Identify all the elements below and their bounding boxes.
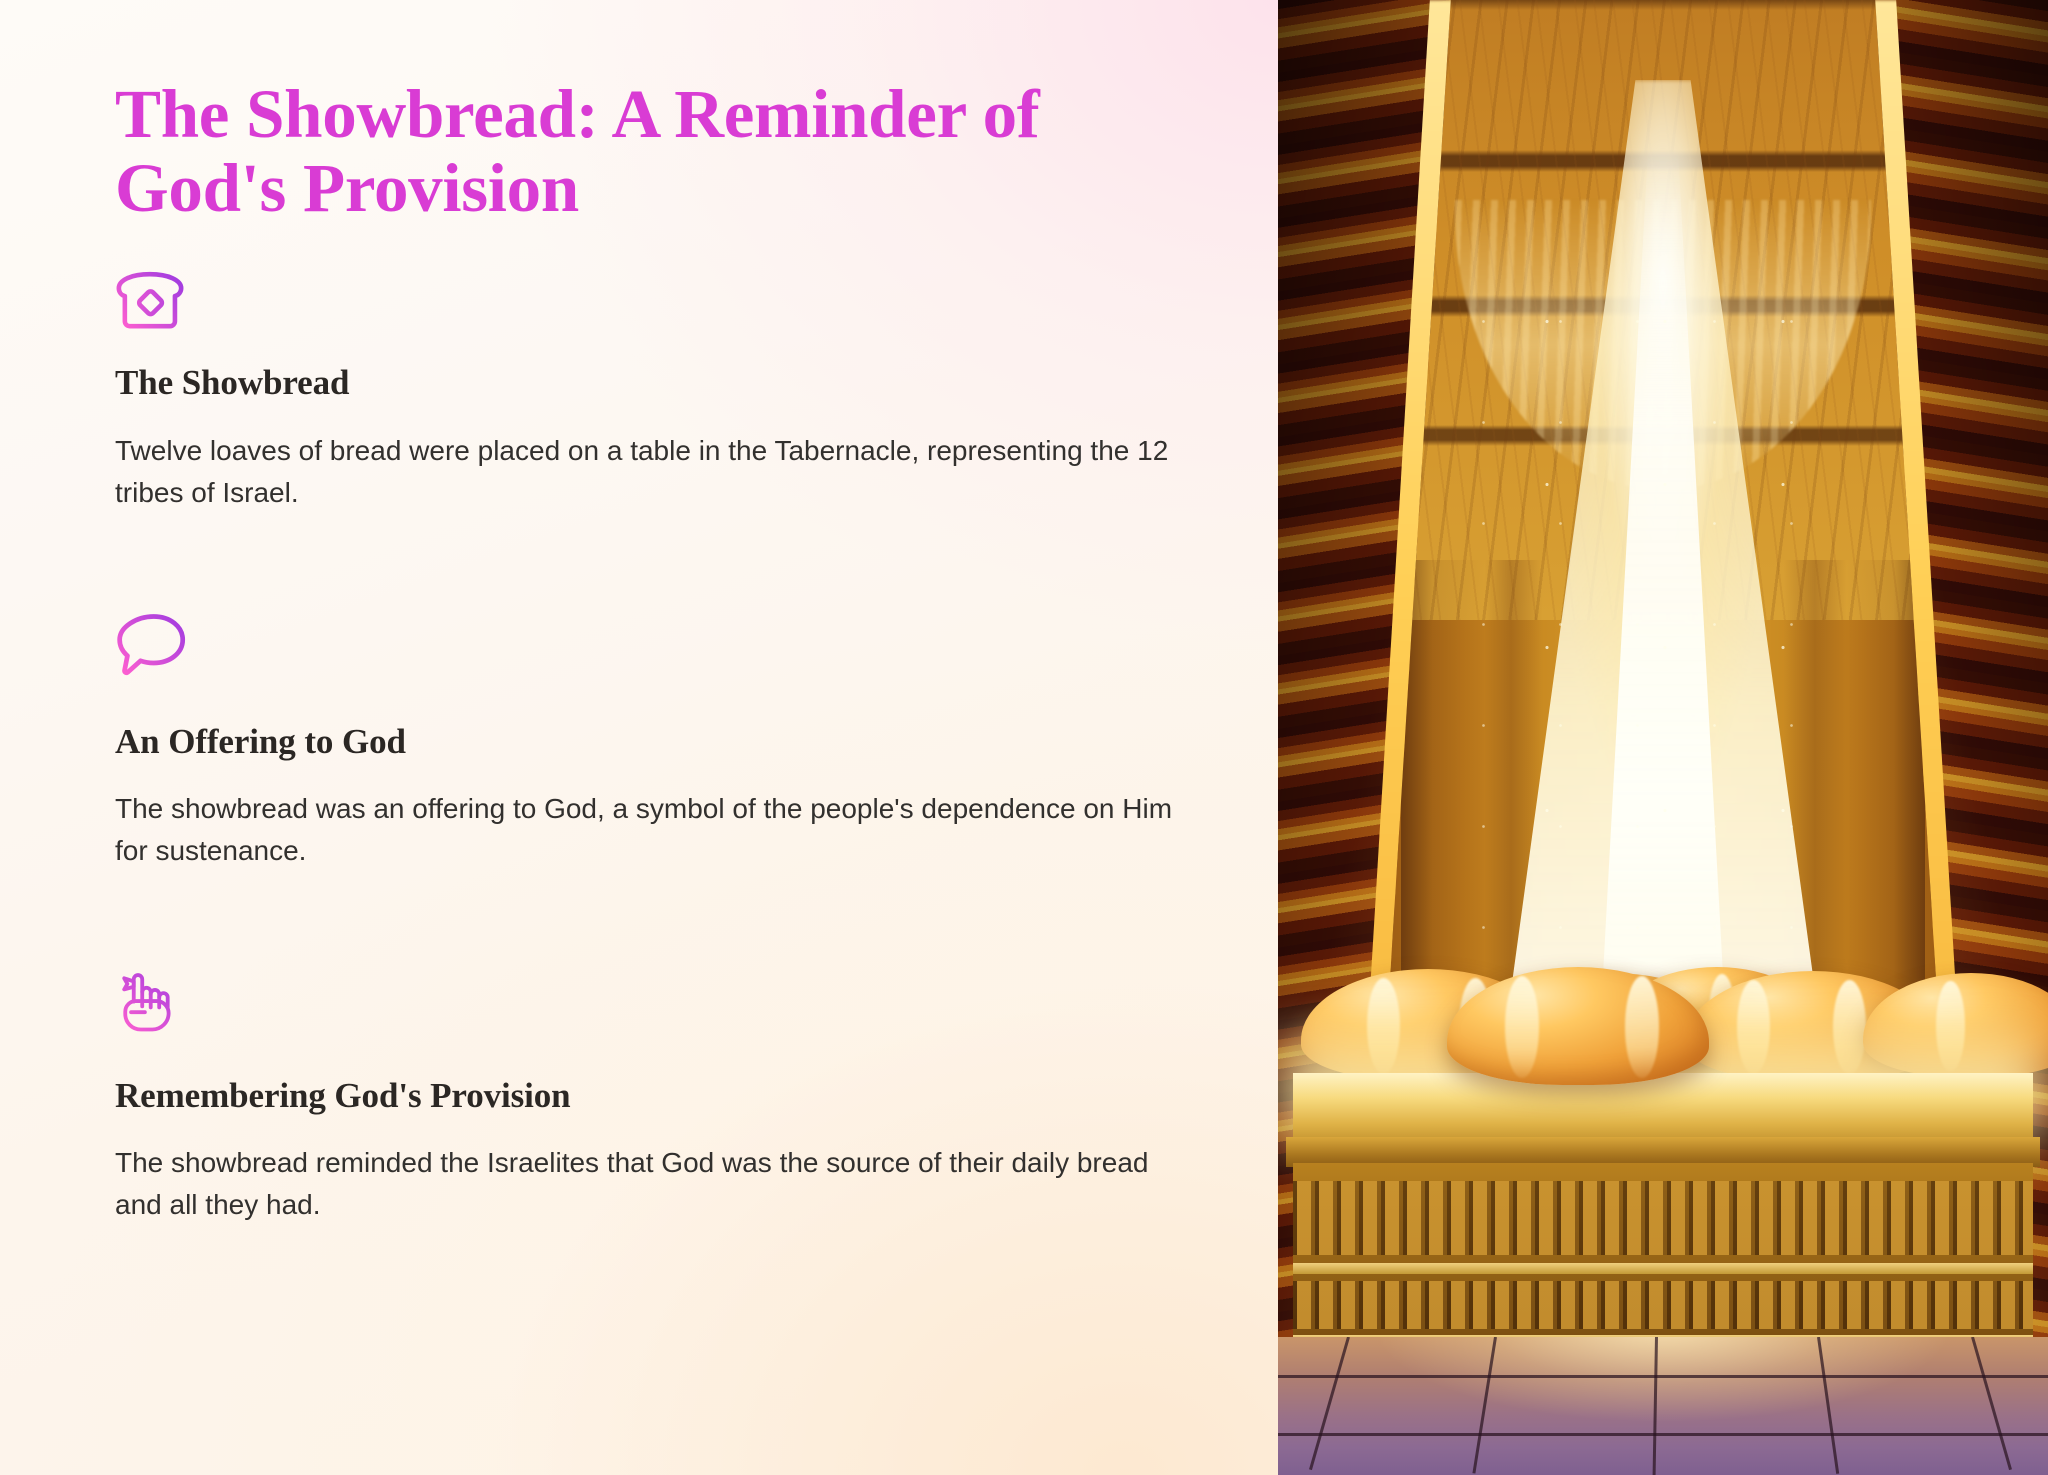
tiled-floor — [1278, 1337, 2048, 1475]
floor-grout-line — [1278, 1375, 2048, 1378]
tabernacle-showbread-table-illustration — [1278, 0, 2048, 1475]
speech-bubble-icon — [115, 611, 189, 679]
floor-grout-line — [1817, 1337, 1839, 1474]
floor-grout-line — [1278, 1433, 2048, 1436]
section-remembering-gods-provision: Remembering God's Provision The showbrea… — [115, 965, 1175, 1227]
hand-with-reminder-string-icon — [115, 965, 179, 1035]
section-body: The showbread reminded the Israelites th… — [115, 1142, 1175, 1227]
page-title: The Showbread: A Reminder of God's Provi… — [115, 78, 1175, 226]
light-dust-sparkles — [1478, 240, 1848, 1000]
table-fluting-upper — [1293, 1181, 2032, 1255]
bread-loaf-icon — [115, 268, 185, 334]
section-an-offering-to-god: An Offering to God The showbread was an … — [115, 611, 1175, 873]
showbread-table-front — [1293, 1163, 2032, 1343]
section-body: The showbread was an offering to God, a … — [115, 788, 1175, 873]
page-root: The Showbread: A Reminder of God's Provi… — [0, 0, 2048, 1475]
floor-grout-line — [1309, 1337, 1350, 1470]
floor-grout-line — [1653, 1337, 1658, 1475]
section-the-showbread: The Showbread Twelve loaves of bread wer… — [115, 268, 1175, 515]
showbread-table-top — [1293, 1073, 2032, 1145]
floor-grout-line — [1971, 1337, 2012, 1470]
table-band-upper — [1293, 1263, 2032, 1274]
content-panel: The Showbread: A Reminder of God's Provi… — [0, 0, 1278, 1475]
floor-grout-line — [1472, 1337, 1497, 1474]
section-heading: Remembering God's Provision — [115, 1075, 1175, 1117]
section-body: Twelve loaves of bread were placed on a … — [115, 430, 1175, 515]
table-fluting-lower — [1293, 1281, 2032, 1329]
section-heading: The Showbread — [115, 362, 1175, 404]
section-heading: An Offering to God — [115, 721, 1175, 763]
